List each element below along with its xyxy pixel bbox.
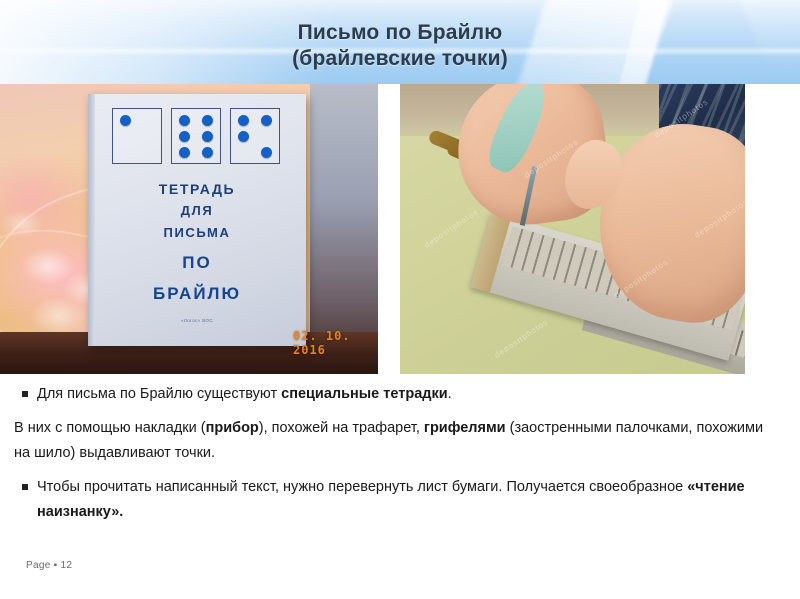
watermark-text: depositphotos [493,317,550,360]
braille-cell-1 [112,108,162,164]
braille-dot [238,115,249,126]
paragraph-spacer [0,409,800,416]
photo-row: ТЕТРАДЬ ДЛЯ ПИСЬМА ПО БРАЙЛЮ «Логос» ВОС… [0,84,800,374]
notebook-text-line-5: БРАЙЛЮ [88,281,306,306]
notebook-publisher-mark: «Логос» ВОС [88,318,306,323]
square-bullet-icon [22,484,28,490]
photo-braille-notebook: ТЕТРАДЬ ДЛЯ ПИСЬМА ПО БРАЙЛЮ «Логос» ВОС… [0,84,378,374]
braille-dot [261,147,272,158]
page-footer: Page ▪ 12 [26,560,72,571]
notebook-text-line-4: ПО [88,250,306,275]
braille-cell-2 [171,108,221,164]
braille-notebook-cover: ТЕТРАДЬ ДЛЯ ПИСЬМА ПО БРАЙЛЮ «Логос» ВОС [88,94,306,346]
slide-title-line-1: Письмо по Брайлю [298,21,503,44]
slide-header-banner: Письмо по Брайлю (брайлевские точки) [0,0,800,84]
bullet-paragraph-1: Для письма по Брайлю существуют специаль… [0,382,800,407]
braille-dot [179,131,190,142]
bullet-paragraph-3: Чтобы прочитать написанный текст, нужно … [0,475,800,525]
paragraph-2: В них с помощью накладки (прибор), похож… [0,416,800,466]
paragraph-2-bold-grifelyami: грифелями [424,420,506,436]
paragraph-2-bold-pribor: прибор [206,420,259,436]
presentation-slide: Письмо по Брайлю (брайлевские точки) [0,0,800,599]
braille-dot [261,115,272,126]
braille-dot [202,115,213,126]
braille-dot [120,115,131,126]
photo-date-stamp: 02. 10. 2016 [293,329,378,357]
photo-writing-with-stylus: depositphotos depositphotos depositphoto… [400,84,745,374]
notebook-text-line-1: ТЕТРАДЬ [88,178,306,200]
slide-body-text: Для письма по Брайлю существуют специаль… [0,382,800,527]
braille-dot [202,147,213,158]
photo-divider-gap [378,84,400,374]
watermark-text: depositphotos [423,207,480,250]
paragraph-1-prefix: Для письма по Брайлю существуют [37,386,281,402]
braille-cell-3 [230,108,280,164]
notebook-cover-text: ТЕТРАДЬ ДЛЯ ПИСЬМА ПО БРАЙЛЮ [88,178,306,306]
paragraph-1-bold: специальные тетрадки [281,386,448,402]
paragraph-3-text: Чтобы прочитать написанный текст, нужно … [37,475,764,525]
braille-dot [202,131,213,142]
paragraph-2-part-c: ), похожей на трафарет, [259,420,424,436]
notebook-text-line-3: ПИСЬМА [88,222,306,244]
slide-title-line-2: (брайлевские точки) [0,46,800,72]
braille-dot [179,147,190,158]
braille-cell-group [112,108,284,164]
braille-dot [238,131,249,142]
paragraph-3-prefix: Чтобы прочитать написанный текст, нужно … [37,479,687,495]
braille-dot [179,115,190,126]
slide-title: Письмо по Брайлю (брайлевские точки) [0,20,800,72]
square-bullet-icon [22,391,28,397]
paragraph-spacer [0,468,800,475]
paragraph-1-text: Для письма по Брайлю существуют специаль… [37,382,764,407]
notebook-text-line-2: ДЛЯ [88,200,306,222]
paragraph-2-part-a: В них с помощью накладки ( [14,420,206,436]
paragraph-1-suffix: . [448,386,452,402]
